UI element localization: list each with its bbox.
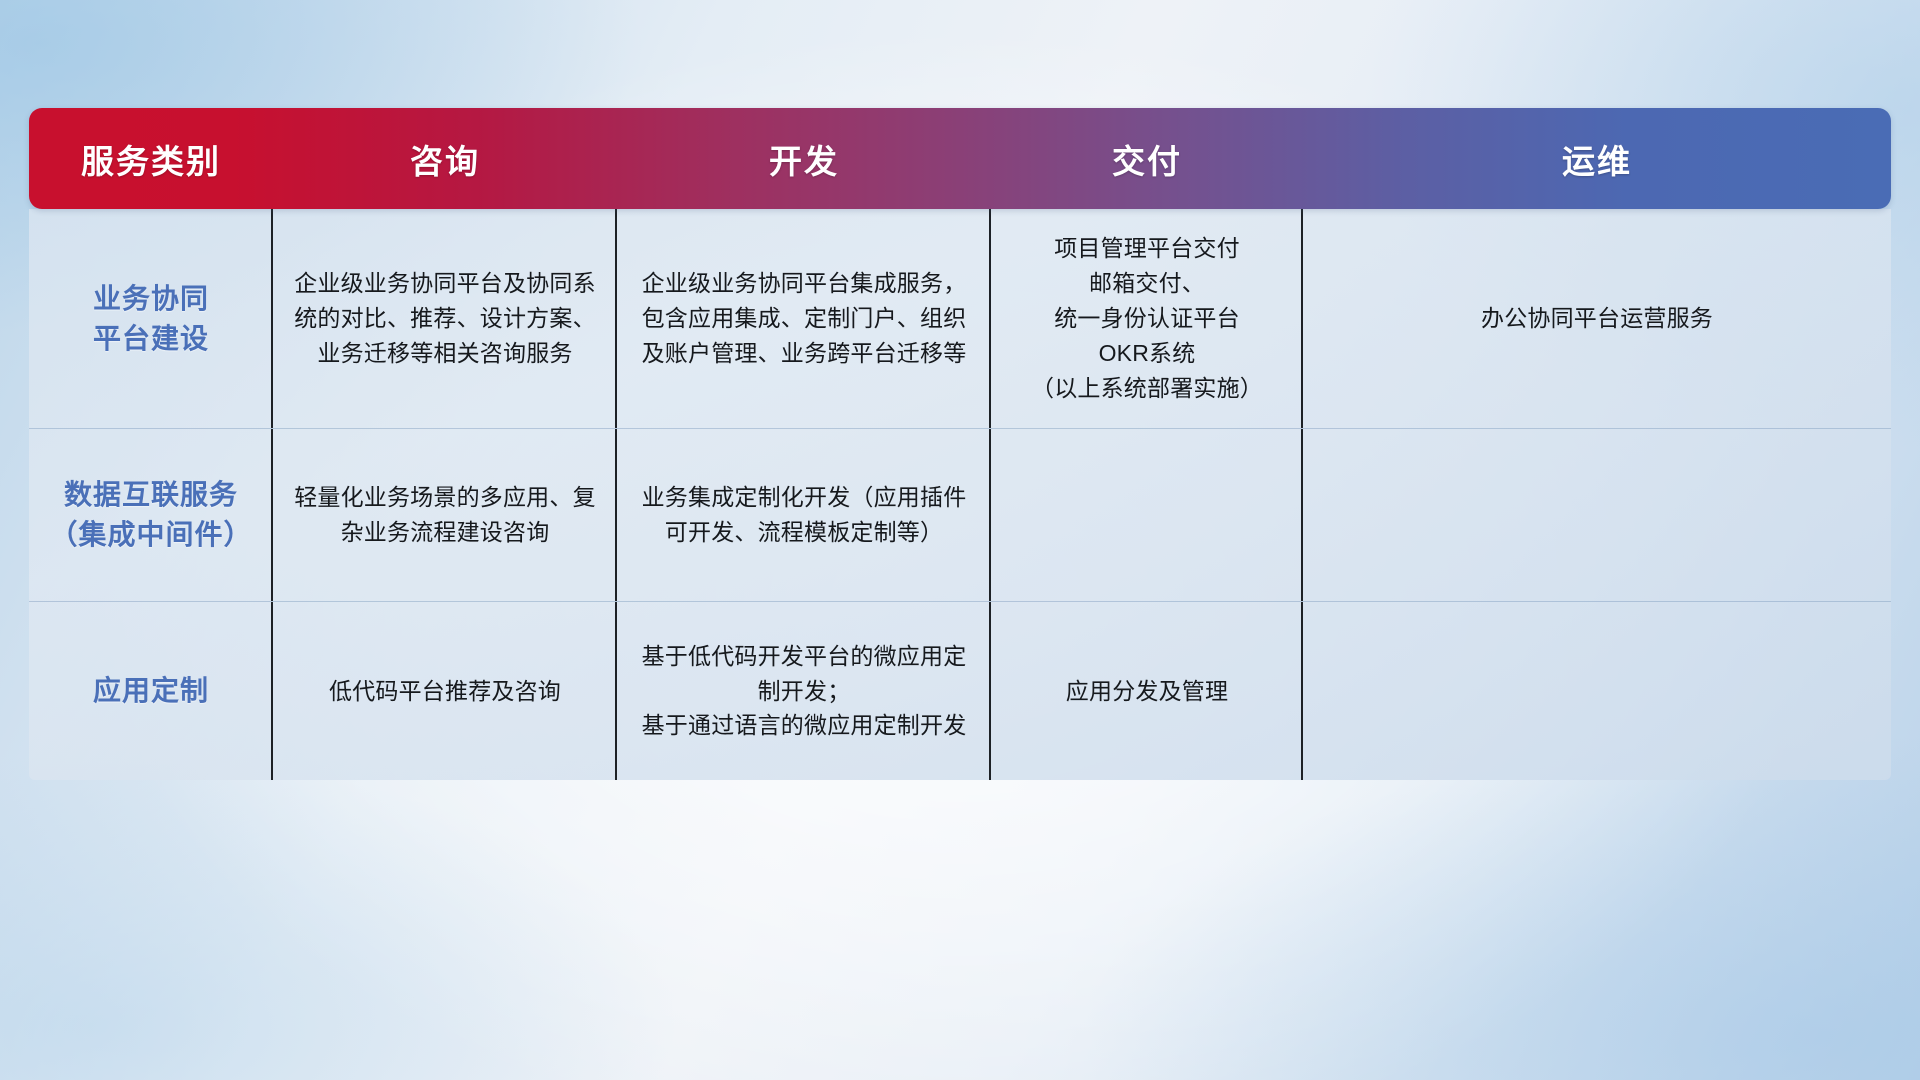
row-delivery-text: 应用分发及管理: [1066, 674, 1228, 709]
table-row: 应用定制 低代码平台推荐及咨询 基于低代码开发平台的微应用定制开发；基于通过语言…: [29, 601, 1891, 780]
header-cell-consulting: 咨询: [273, 108, 617, 209]
row-development-text: 基于低代码开发平台的微应用定制开发；基于通过语言的微应用定制开发: [631, 639, 977, 744]
row-consulting-text: 低代码平台推荐及咨询: [329, 674, 561, 709]
header-label-operations: 运维: [1562, 135, 1632, 183]
row-operations-text: 办公协同平台运营服务: [1481, 301, 1713, 336]
row-category-label: 应用定制: [93, 671, 209, 711]
row-development-cell: 业务集成定制化开发（应用插件可开发、流程模板定制等）: [617, 429, 991, 601]
row-delivery-cell: 应用分发及管理: [991, 602, 1303, 780]
row-development-text: 业务集成定制化开发（应用插件可开发、流程模板定制等）: [631, 480, 977, 550]
header-cell-delivery: 交付: [991, 108, 1303, 209]
row-delivery-text: 项目管理平台交付邮箱交付、统一身份认证平台OKR系统（以上系统部署实施）: [1031, 231, 1263, 406]
row-consulting-cell: 低代码平台推荐及咨询: [273, 602, 617, 780]
row-category-cell: 应用定制: [29, 602, 273, 780]
row-consulting-cell: 企业级业务协同平台及协同系统的对比、推荐、设计方案、业务迁移等相关咨询服务: [273, 209, 617, 428]
row-development-cell: 基于低代码开发平台的微应用定制开发；基于通过语言的微应用定制开发: [617, 602, 991, 780]
row-category-cell: 业务协同平台建设: [29, 209, 273, 428]
row-category-label: 业务协同平台建设: [93, 279, 209, 359]
row-development-cell: 企业级业务协同平台集成服务，包含应用集成、定制门户、组织及账户管理、业务跨平台迁…: [617, 209, 991, 428]
row-consulting-text: 企业级业务协同平台及协同系统的对比、推荐、设计方案、业务迁移等相关咨询服务: [287, 266, 603, 371]
row-delivery-cell: 项目管理平台交付邮箱交付、统一身份认证平台OKR系统（以上系统部署实施）: [991, 209, 1303, 428]
row-consulting-cell: 轻量化业务场景的多应用、复杂业务流程建设咨询: [273, 429, 617, 601]
row-operations-cell: [1303, 429, 1891, 601]
row-category-label: 数据互联服务（集成中间件）: [49, 475, 252, 555]
header-cell-service-category: 服务类别: [29, 108, 273, 209]
table-header-row: 服务类别 咨询 开发 交付 运维: [29, 108, 1891, 209]
header-label-development: 开发: [769, 135, 839, 183]
row-delivery-cell: [991, 429, 1303, 601]
header-label-delivery: 交付: [1112, 135, 1182, 183]
header-cell-development: 开发: [617, 108, 991, 209]
row-operations-cell: [1303, 602, 1891, 780]
header-label-consulting: 咨询: [410, 135, 480, 183]
table-body: 业务协同平台建设 企业级业务协同平台及协同系统的对比、推荐、设计方案、业务迁移等…: [29, 209, 1891, 780]
row-category-cell: 数据互联服务（集成中间件）: [29, 429, 273, 601]
row-consulting-text: 轻量化业务场景的多应用、复杂业务流程建设咨询: [287, 480, 603, 550]
table-row: 业务协同平台建设 企业级业务协同平台及协同系统的对比、推荐、设计方案、业务迁移等…: [29, 209, 1891, 428]
row-development-text: 企业级业务协同平台集成服务，包含应用集成、定制门户、组织及账户管理、业务跨平台迁…: [631, 266, 977, 371]
header-cell-operations: 运维: [1303, 108, 1891, 209]
header-label-service-category: 服务类别: [81, 135, 221, 183]
table-row: 数据互联服务（集成中间件） 轻量化业务场景的多应用、复杂业务流程建设咨询 业务集…: [29, 428, 1891, 601]
row-operations-cell: 办公协同平台运营服务: [1303, 209, 1891, 428]
service-matrix-table: 服务类别 咨询 开发 交付 运维 业务协同平台建设 企业级业务协同平台及协同系统…: [29, 108, 1891, 780]
